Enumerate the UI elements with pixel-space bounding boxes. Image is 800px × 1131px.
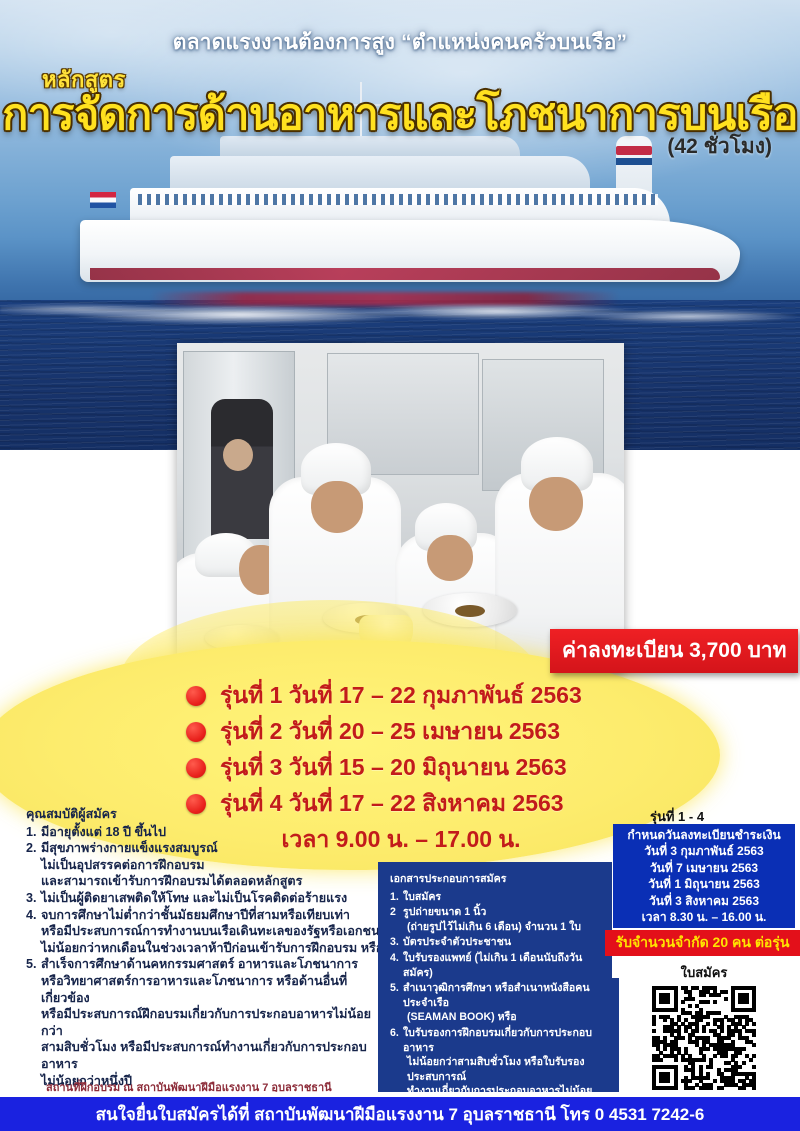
document-text: สำเนาวุฒิการศึกษา หรือสำเนาหนังสือคนประจ…: [403, 981, 602, 1025]
qualification-line: และสามารถเข้ารับการฝึกอบรมได้ตลอดหลักสูต…: [41, 873, 386, 890]
session-3-text: รุ่นที่ 3 วันที่ 15 – 20 มิถุนายน 2563: [220, 750, 567, 786]
document-item: 3.บัตรประจำตัวประชาชน: [390, 935, 602, 950]
qualification-number: 3.: [26, 890, 41, 907]
document-number: 5.: [390, 981, 403, 1025]
qualification-item: 4.จบการศึกษาไม่ต่ำกว่าชั้นมัธยมศึกษาปีที…: [26, 907, 386, 957]
payment-date-2: วันที่ 7 เมษายน 2563: [613, 860, 795, 876]
qualifications-heading: คุณสมบัติผู้สมัคร: [26, 806, 386, 823]
tagline: ตลาดแรงงานต้องการสูง “ตำแหน่งคนครัวบนเรื…: [0, 26, 800, 59]
qualification-number: 2.: [26, 840, 41, 890]
document-text: บัตรประจำตัวประชาชน: [403, 935, 602, 950]
document-number: 4.: [390, 951, 403, 980]
document-item: 4.ใบรับรองแพทย์ (ไม่เกิน 1 เดือนนับถึงวั…: [390, 951, 602, 980]
course-hours: (42 ชั่วโมง): [667, 130, 772, 163]
bullet-icon: [186, 686, 206, 706]
photo-chef-4-face: [529, 477, 583, 531]
qualification-line: ไม่เป็นอุปสรรคต่อการฝึกอบรม: [41, 857, 386, 874]
document-line: บัตรประจำตัวประชาชน: [403, 935, 602, 950]
photo-background-person-face: [223, 439, 253, 471]
qualification-line: สามสิบชั่วโมง หรือมีประสบการณ์ทำงานเกี่ย…: [41, 1039, 386, 1072]
qualification-item: 2.มีสุขภาพร่างกายแข็งแรงสมบูรณ์ไม่เป็นอุ…: [26, 840, 386, 890]
qualifications-block: คุณสมบัติผู้สมัคร 1.มีอายุตั้งแต่ 18 ปี …: [26, 806, 386, 1089]
qualification-line: ไม่น้อยกว่าหกเดือนในช่วงเวลาห้าปีก่อนเข้…: [41, 940, 386, 957]
qualification-line: หรือมีประสบการณ์การทำงานบนเรือเดินทะเลขอ…: [41, 923, 386, 940]
document-number: 2: [390, 905, 403, 934]
session-2-text: รุ่นที่ 2 วันที่ 20 – 25 เมษายน 2563: [220, 714, 560, 750]
document-text: ใบสมัคร: [403, 890, 602, 905]
footer-contact: สนใจยื่นใบสมัครได้ที่ สถาบันพัฒนาฝีมือแร…: [0, 1097, 800, 1131]
qualifications-list: 1.มีอายุตั้งแต่ 18 ปี ขึ้นไป2.มีสุขภาพร่…: [26, 824, 386, 1090]
document-line: ใบรับรองแพทย์ (ไม่เกิน 1 เดือนนับถึงวันส…: [403, 951, 602, 980]
payment-panel: กำหนดวันลงทะเบียนชำระเงิน วันที่ 3 กุมภา…: [613, 824, 795, 928]
fee-badge: ค่าลงทะเบียน 3,700 บาท: [550, 629, 798, 673]
document-line: รูปถ่ายขนาด 1 นิ้ว: [403, 905, 602, 920]
ship-superstructure: [170, 156, 590, 192]
qualification-number: 1.: [26, 824, 41, 841]
qualification-item: 5.สำเร็จการศึกษาด้านคหกรรมศาสตร์ อาหารแล…: [26, 956, 386, 1089]
document-item: 2รูปถ่ายขนาด 1 นิ้ว(ถ่ายรูปไว้ไม่เกิน 6 …: [390, 905, 602, 934]
documents-heading: เอกสารประกอบการสมัคร: [390, 872, 602, 887]
payment-date-4: วันที่ 3 สิงหาคม 2563: [613, 893, 795, 909]
ship-flag-icon: [90, 192, 116, 208]
poster-root: ตลาดแรงงานต้องการสูง “ตำแหน่งคนครัวบนเรื…: [0, 0, 800, 1131]
seat-limit-badge: รับจำนวนจำกัด 20 คน ต่อรุ่น: [605, 930, 800, 956]
bullet-icon: [186, 758, 206, 778]
session-row: รุ่นที่ 1 วันที่ 17 – 22 กุมภาพันธ์ 2563: [186, 678, 616, 714]
qualification-line: สำเร็จการศึกษาด้านคหกรรมศาสตร์ อาหารและโ…: [41, 956, 386, 973]
qr-label: ใบสมัคร: [613, 962, 795, 983]
document-text: รูปถ่ายขนาด 1 นิ้ว(ถ่ายรูปไว้ไม่เกิน 6 เ…: [403, 905, 602, 934]
ship-funnel-blue-band: [616, 158, 652, 165]
qualification-line: จบการศึกษาไม่ต่ำกว่าชั้นมัธยมศึกษาปีที่ส…: [41, 907, 386, 924]
payment-date-3: วันที่ 1 มิถุนายน 2563: [613, 876, 795, 892]
document-number: 3.: [390, 935, 403, 950]
payment-heading: กำหนดวันลงทะเบียนชำระเงิน: [613, 827, 795, 843]
photo-food-2: [455, 605, 485, 617]
qualification-line: หรือวิทยาศาสตร์การอาหารและโภชนาการ หรือด…: [41, 973, 386, 1006]
qualification-line: มีสุขภาพร่างกายแข็งแรงสมบูรณ์: [41, 840, 386, 857]
photo-chef-2-face: [311, 481, 363, 533]
document-line: (ถ่ายรูปไว้ไม่เกิน 6 เดือน) จำนวน 1 ใบ: [403, 920, 602, 935]
qualification-text: สำเร็จการศึกษาด้านคหกรรมศาสตร์ อาหารและโ…: [41, 956, 386, 1089]
qualification-item: 3.ไม่เป็นผู้ติดยาเสพติดให้โทษ และไม่เป็น…: [26, 890, 386, 907]
qualification-text: มีอายุตั้งแต่ 18 ปี ขึ้นไป: [41, 824, 386, 841]
document-line: สำเนาวุฒิการศึกษา หรือสำเนาหนังสือคนประจ…: [403, 981, 602, 1010]
session-list: รุ่นที่ 1 วันที่ 17 – 22 กุมภาพันธ์ 2563…: [186, 678, 616, 822]
qr-side-bar: [612, 978, 619, 1098]
document-line: ใบรับรองการฝึกอบรมเกี่ยวกับการประกอบอาหา…: [403, 1026, 602, 1055]
documents-panel: เอกสารประกอบการสมัคร 1.ใบสมัคร2รูปถ่ายขน…: [378, 862, 612, 1096]
qualification-number: 5.: [26, 956, 41, 1089]
document-text: ใบรับรองแพทย์ (ไม่เกิน 1 เดือนนับถึงวันส…: [403, 951, 602, 980]
document-number: 1.: [390, 890, 403, 905]
session-row: รุ่นที่ 2 วันที่ 20 – 25 เมษายน 2563: [186, 714, 616, 750]
document-item: 5.สำเนาวุฒิการศึกษา หรือสำเนาหนังสือคนปร…: [390, 981, 602, 1025]
qualification-text: จบการศึกษาไม่ต่ำกว่าชั้นมัธยมศึกษาปีที่ส…: [41, 907, 386, 957]
payment-date-1: วันที่ 3 กุมภาพันธ์ 2563: [613, 843, 795, 859]
cruise-ship-illustration: [60, 130, 750, 305]
qualification-text: มีสุขภาพร่างกายแข็งแรงสมบูรณ์ไม่เป็นอุปส…: [41, 840, 386, 890]
bullet-icon: [186, 722, 206, 742]
document-line: ใบสมัคร: [403, 890, 602, 905]
ship-hull-red-band: [90, 268, 720, 280]
qualification-number: 4.: [26, 907, 41, 957]
session-row: รุ่นที่ 3 วันที่ 15 – 20 มิถุนายน 2563: [186, 750, 616, 786]
qualification-item: 1.มีอายุตั้งแต่ 18 ปี ขึ้นไป: [26, 824, 386, 841]
ship-window-row: [138, 194, 658, 205]
session-1-text: รุ่นที่ 1 วันที่ 17 – 22 กุมภาพันธ์ 2563: [220, 678, 582, 714]
payment-time: เวลา 8.30 น. – 16.00 น.: [613, 909, 795, 925]
qualification-line: มีอายุตั้งแต่ 18 ปี ขึ้นไป: [41, 824, 386, 841]
document-line: ไม่น้อยกว่าสามสิบชั่วโมง หรือใบรับรองประ…: [403, 1055, 602, 1084]
qualification-text: ไม่เป็นผู้ติดยาเสพติดให้โทษ และไม่เป็นโร…: [41, 890, 386, 907]
document-item: 1.ใบสมัคร: [390, 890, 602, 905]
qualification-line: ไม่เป็นผู้ติดยาเสพติดให้โทษ และไม่เป็นโร…: [41, 890, 386, 907]
document-line: (SEAMAN BOOK) หรือ: [403, 1010, 602, 1025]
photo-chef-3-face: [427, 535, 473, 581]
qr-code[interactable]: [648, 982, 760, 1094]
documents-list: 1.ใบสมัคร2รูปถ่ายขนาด 1 นิ้ว(ถ่ายรูปไว้ไ…: [390, 890, 602, 1114]
qualification-line: หรือมีประสบการณ์ฝึกอบรมเกี่ยวกับการประกอ…: [41, 1006, 386, 1039]
